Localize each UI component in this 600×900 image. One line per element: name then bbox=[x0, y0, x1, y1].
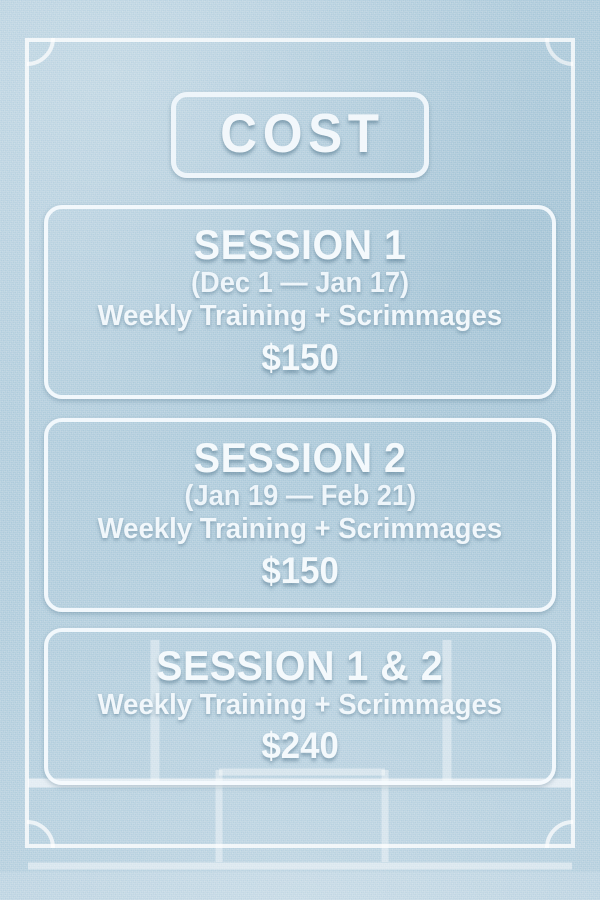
session-card-3-description: Weekly Training + Scrimmages bbox=[98, 688, 503, 722]
session-card-3[interactable]: SESSION 1 & 2 Weekly Training + Scrimmag… bbox=[44, 628, 556, 785]
cost-poster: COST SESSION 1 (Dec 1 — Jan 17) Weekly T… bbox=[0, 0, 600, 900]
session-card-2-title: SESSION 2 bbox=[194, 437, 407, 480]
session-card-1-description: Weekly Training + Scrimmages bbox=[98, 299, 503, 333]
page-title: COST bbox=[0, 92, 600, 178]
session-card-3-title: SESSION 1 & 2 bbox=[157, 645, 444, 688]
session-card-2-price: $150 bbox=[261, 549, 338, 593]
title-text: COST bbox=[220, 106, 384, 161]
session-card-1-dates: (Dec 1 — Jan 17) bbox=[191, 267, 409, 299]
session-card-3-price: $240 bbox=[261, 724, 338, 768]
poster-content: COST SESSION 1 (Dec 1 — Jan 17) Weekly T… bbox=[0, 0, 600, 900]
session-card-2-description: Weekly Training + Scrimmages bbox=[98, 512, 503, 546]
session-card-1-price: $150 bbox=[261, 336, 338, 380]
session-card-2[interactable]: SESSION 2 (Jan 19 — Feb 21) Weekly Train… bbox=[44, 418, 556, 612]
session-card-2-dates: (Jan 19 — Feb 21) bbox=[184, 480, 416, 512]
session-card-1[interactable]: SESSION 1 (Dec 1 — Jan 17) Weekly Traini… bbox=[44, 205, 556, 399]
session-card-1-title: SESSION 1 bbox=[194, 224, 407, 267]
title-box: COST bbox=[171, 92, 430, 178]
